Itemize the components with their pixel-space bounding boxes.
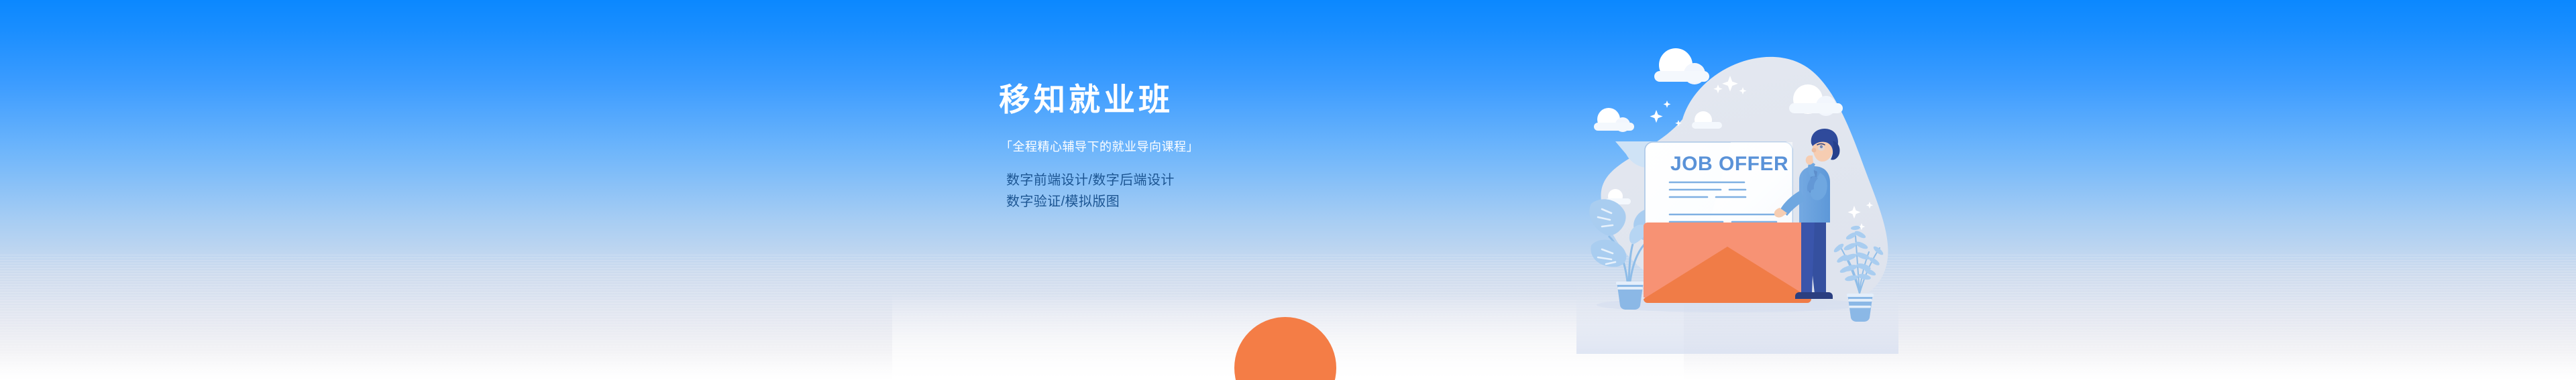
envelope (1644, 223, 1811, 303)
cloud-mid-left (1594, 108, 1634, 132)
cloud-top-left (1654, 48, 1709, 84)
letter-title: JOB OFFER (1670, 153, 1788, 175)
orange-dome-accent (1234, 317, 1336, 380)
list-item: 数字验证/模拟版图 (1006, 191, 1348, 212)
page-title: 移知就业班 (999, 84, 1348, 116)
promo-banner: 移知就业班 「全程精心辅导下的就业导向课程」 数字前端设计/数字后端设计 数字验… (0, 0, 2576, 380)
list-item: 数字前端设计/数字后端设计 (1006, 170, 1348, 191)
subtitle: 「全程精心辅导下的就业导向课程」 (1000, 140, 1348, 155)
job-offer-illustration: JOB OFFER (1563, 0, 1912, 380)
copy-block: 移知就业班 「全程精心辅导下的就业导向课程」 数字前端设计/数字后端设计 数字验… (999, 84, 1348, 212)
course-list: 数字前端设计/数字后端设计 数字验证/模拟版图 (1006, 170, 1348, 212)
